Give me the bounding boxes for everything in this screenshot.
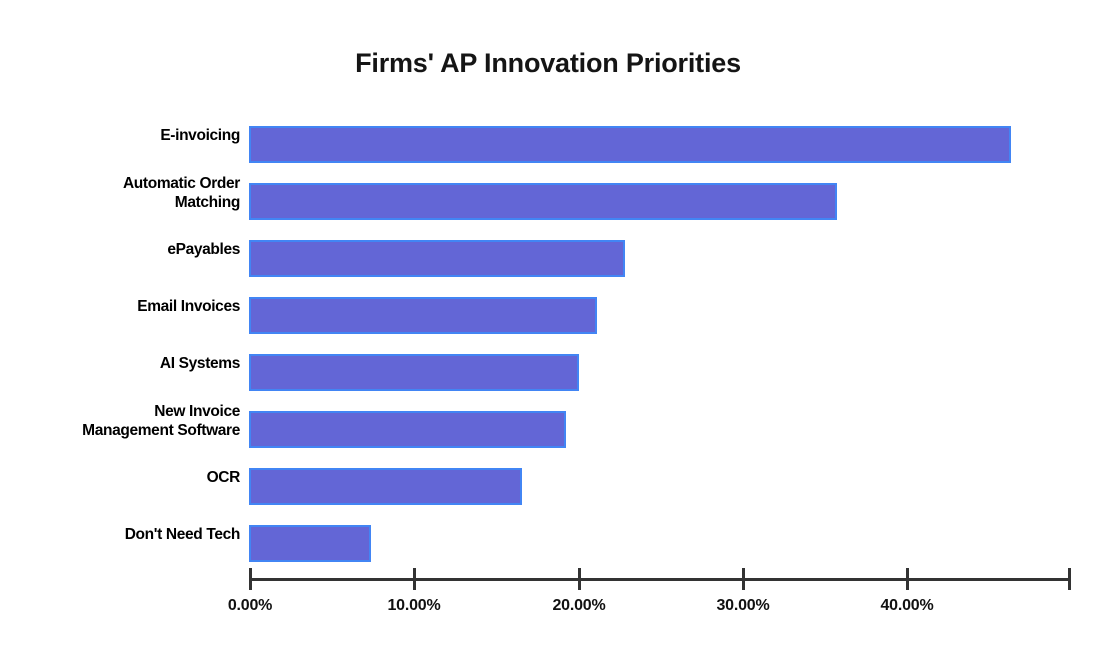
plot-area: E-invoicing Automatic Order Matching ePa… <box>0 0 1096 656</box>
x-axis-tick <box>742 568 745 590</box>
x-axis-tick <box>249 568 252 590</box>
bar-row: New Invoice Management Software <box>0 411 1096 468</box>
category-label: Automatic Order Matching <box>10 174 240 212</box>
x-axis-tick-label: 30.00% <box>673 597 813 615</box>
bar-e-invoicing[interactable] <box>249 126 1011 163</box>
x-axis-tick <box>413 568 416 590</box>
x-axis-tick-label: 20.00% <box>509 597 649 615</box>
bar-ai-systems[interactable] <box>249 354 579 391</box>
bar-dont-need-tech[interactable] <box>249 525 371 562</box>
category-label: Email Invoices <box>10 297 240 316</box>
x-axis-line <box>249 578 1071 581</box>
x-axis-tick-label: 0.00% <box>180 597 320 615</box>
bar-row: Automatic Order Matching <box>0 183 1096 240</box>
bar-epayables[interactable] <box>249 240 625 277</box>
bar-row: Email Invoices <box>0 297 1096 354</box>
category-label: New Invoice Management Software <box>10 402 240 440</box>
x-axis-tick-label: 10.00% <box>344 597 484 615</box>
x-axis-tick <box>578 568 581 590</box>
category-label: E-invoicing <box>10 126 240 145</box>
bar-email-invoices[interactable] <box>249 297 597 334</box>
category-label: ePayables <box>10 240 240 259</box>
category-label: OCR <box>10 468 240 487</box>
bar-new-invoice-management-software[interactable] <box>249 411 566 448</box>
bar-row: OCR <box>0 468 1096 525</box>
bar-automatic-order-matching[interactable] <box>249 183 837 220</box>
category-label: AI Systems <box>10 354 240 373</box>
bar-row: ePayables <box>0 240 1096 297</box>
x-axis-tick-label: 40.00% <box>837 597 977 615</box>
bar-ocr[interactable] <box>249 468 522 505</box>
bar-row: Don't Need Tech <box>0 525 1096 582</box>
category-label: Don't Need Tech <box>10 525 240 544</box>
bar-chart: Firms' AP Innovation Priorities E-invoic… <box>0 0 1096 656</box>
x-axis-tick <box>1068 568 1071 590</box>
x-axis-tick <box>906 568 909 590</box>
